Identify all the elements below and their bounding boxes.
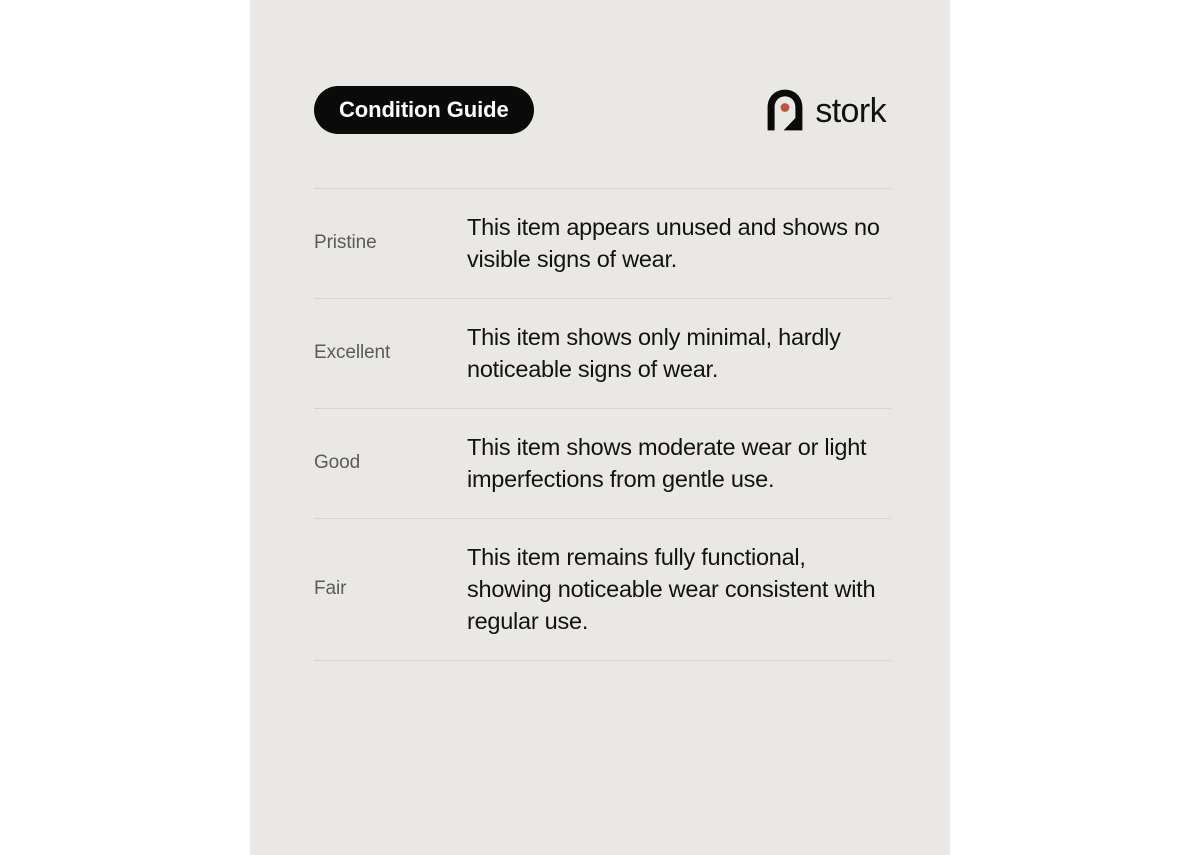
page-root: Condition Guide stork Pristine This item… [0, 0, 1200, 855]
table-divider-bottom [314, 660, 891, 661]
stork-brand-logo: stork [765, 87, 886, 133]
condition-guide-pill-button[interactable]: Condition Guide [314, 86, 534, 134]
condition-description-good: This item shows moderate wear or light i… [467, 431, 887, 496]
condition-label-fair: Fair [314, 578, 467, 601]
table-row: Good This item shows moderate wear or li… [314, 409, 891, 518]
card-header: Condition Guide stork [314, 86, 886, 136]
condition-label-good: Good [314, 452, 467, 475]
condition-guide-table: Pristine This item appears unused and sh… [314, 188, 891, 661]
stork-arch-logo-icon [765, 88, 805, 132]
condition-description-pristine: This item appears unused and shows no vi… [467, 211, 887, 276]
condition-guide-card: Condition Guide stork Pristine This item… [250, 0, 950, 855]
stork-wordmark: stork [815, 94, 886, 128]
table-row: Fair This item remains fully functional,… [314, 519, 891, 660]
condition-description-fair: This item remains fully functional, show… [467, 541, 887, 638]
condition-label-excellent: Excellent [314, 342, 467, 365]
table-row: Pristine This item appears unused and sh… [314, 189, 891, 298]
table-row: Excellent This item shows only minimal, … [314, 299, 891, 408]
condition-description-excellent: This item shows only minimal, hardly not… [467, 321, 887, 386]
condition-label-pristine: Pristine [314, 232, 467, 255]
condition-guide-pill-label: Condition Guide [339, 99, 509, 121]
